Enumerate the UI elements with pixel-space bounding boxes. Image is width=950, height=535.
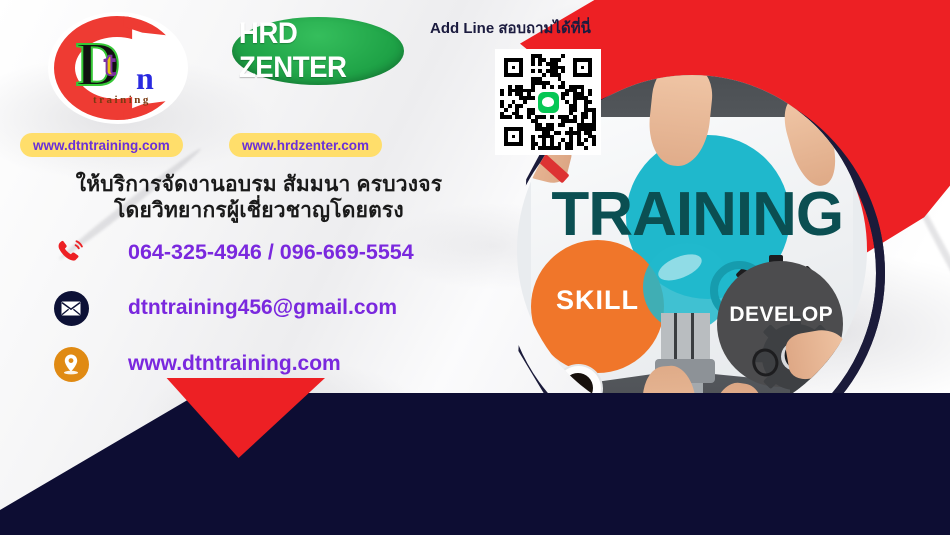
contact-list: 064-325-4946 / 096-669-5554 dtntraining4…: [48, 228, 468, 396]
dtn-letter-t: t: [104, 48, 115, 82]
line-qr-code[interactable]: [495, 49, 601, 155]
hrdzenter-logo: HRD ZENTER: [232, 17, 404, 85]
website-url: www.dtntraining.com: [94, 352, 341, 376]
contact-row-website[interactable]: www.dtntraining.com: [48, 340, 468, 388]
headline: ให้บริการจัดงานอบรม สัมมนา ครบวงจร โดยวิ…: [24, 172, 494, 225]
dtn-logo: D t n training: [48, 12, 188, 124]
photo-word-training: TRAINING: [531, 184, 864, 246]
phone-icon: [48, 233, 94, 271]
contact-row-email[interactable]: dtntraining456@gmail.com: [48, 284, 468, 332]
email-address: dtntraining456@gmail.com: [94, 296, 397, 320]
contact-row-phone[interactable]: 064-325-4946 / 096-669-5554: [48, 228, 468, 276]
location-pin-icon: [48, 347, 94, 382]
photo-word-skill: SKILL: [538, 285, 657, 316]
headline-line-2: โดยวิทยากรผู้เชี่ยวชาญโดยตรง: [24, 198, 494, 224]
hrdzenter-logo-text: HRD ZENTER: [239, 17, 397, 85]
envelope-icon: [48, 291, 94, 326]
promotional-banner: TRAINING SKILL DEVELOP D t n training HR…: [0, 0, 950, 535]
add-line-caption: Add Line สอบถามได้ที่นี่: [430, 16, 591, 40]
line-app-icon: [535, 89, 561, 115]
headline-line-1: ให้บริการจัดงานอบรม สัมมนา ครบวงจร: [24, 172, 494, 198]
lightbulb-neck: [661, 313, 710, 362]
phone-number: 064-325-4946 / 096-669-5554: [94, 240, 414, 265]
badge-dtntraining[interactable]: www.dtntraining.com: [20, 133, 183, 157]
photo-word-develop: DEVELOP: [717, 303, 847, 327]
badge-hrdzenter[interactable]: www.hrdzenter.com: [229, 133, 382, 157]
dtn-letter-n: n: [136, 62, 154, 94]
dtn-logo-subtitle: training: [93, 94, 151, 106]
